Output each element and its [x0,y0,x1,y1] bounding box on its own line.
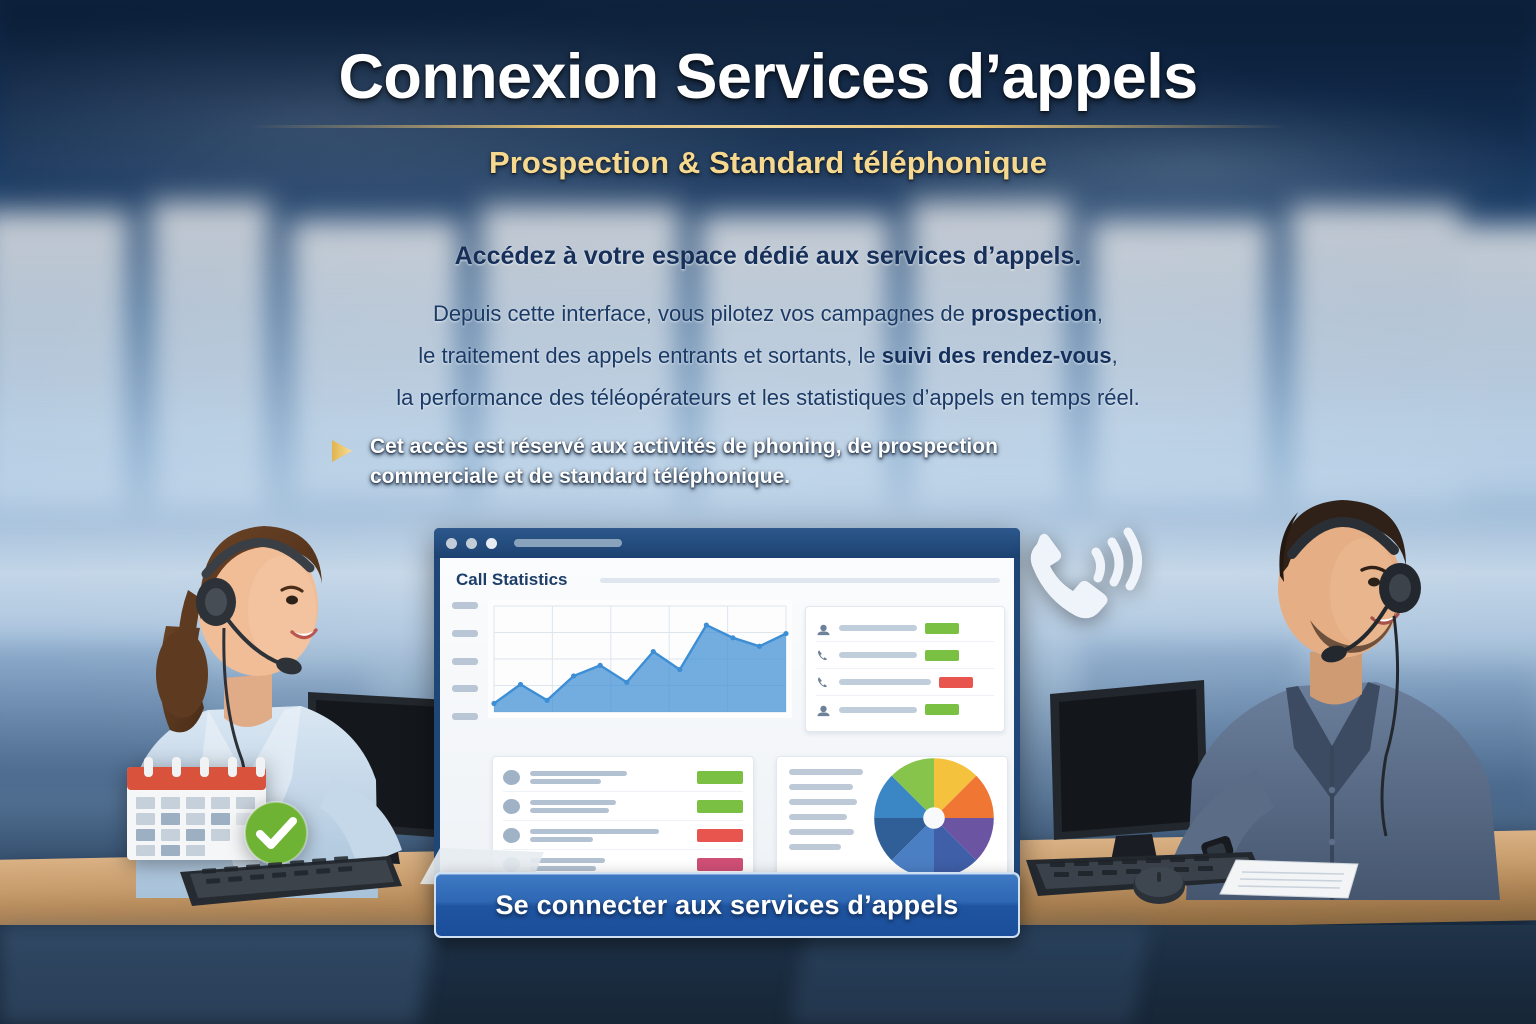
status-row[interactable] [816,696,994,723]
window-dot-minimize[interactable] [466,538,477,549]
copy-line-2-c: , [1112,343,1118,368]
status-row-label [839,679,931,685]
legend-bar [789,844,841,850]
status-row-label [839,652,917,658]
area-series [488,600,792,718]
notepad [1216,854,1362,902]
phone-icon [816,648,831,663]
keyboard-left [176,852,406,910]
list-item[interactable] [503,792,743,821]
y-tick [452,658,478,665]
page-title: Call Statistics [456,570,568,590]
status-badge [925,650,959,661]
connect-button-label: Se connecter aux services d’appels [495,890,958,921]
callout-text: Cet accès est réservé aux activités de p… [370,432,998,492]
legend-bar [789,784,853,790]
copy-lead: Accédez à votre espace dédié aux service… [0,242,1536,271]
phone-icon [816,675,831,690]
copy-line-1-c: , [1097,301,1103,326]
call-status-card[interactable] [805,606,1005,732]
promo-banner: Call Statistics [0,0,1536,1024]
hero-header: Connexion Services d’appels Prospection … [0,44,1536,181]
status-row[interactable] [816,642,994,669]
y-tick [452,630,478,637]
call-distribution-card[interactable] [776,756,1008,884]
list-item-badge [697,771,743,784]
y-axis-ticks [452,602,480,720]
status-row[interactable] [816,669,994,696]
callout-line-1: Cet accès est réservé aux activités de p… [370,432,998,462]
copy-line-2: le traitement des appels entrants et sor… [0,335,1536,377]
connect-button[interactable]: Se connecter aux services d’appels [434,872,1020,938]
pie-legend [789,769,863,850]
y-tick [452,685,478,692]
copy-line-1: Depuis cette interface, vous pilotez vos… [0,293,1536,335]
hero-divider [251,125,1286,128]
list-item-text [530,771,687,784]
y-tick [452,713,478,720]
status-row[interactable] [816,615,994,642]
avatar [503,799,520,814]
list-item-text [530,800,687,813]
list-item-badge [697,800,743,813]
restricted-access-callout: Cet accès est réservé aux activités de p… [302,432,1062,492]
y-tick [452,602,478,609]
mouse [1128,862,1190,906]
window-dot-maximize[interactable] [486,538,497,549]
list-item-text [530,858,687,871]
user-icon [816,621,831,636]
copy-line-2-a: le traitement des appels entrants et sor… [418,343,881,368]
status-row-label [839,707,917,713]
avatar [503,770,520,785]
user-icon [816,702,831,717]
dashboard-window[interactable]: Call Statistics [434,528,1020,886]
copy-line-1-bold: prospection [971,301,1097,326]
hero-title: Connexion Services d’appels [0,44,1536,111]
desk-underside [0,925,1536,1024]
list-item[interactable] [503,763,743,792]
legend-bar [789,769,863,775]
pie-center-hole [923,807,945,829]
title-divider [600,578,1000,583]
status-row-label [839,625,917,631]
arrow-right-icon [302,438,354,464]
agent-male-illustration [1128,470,1528,900]
hero-subtitle: Prospection & Standard téléphonique [0,145,1536,181]
copy-line-3: la performance des téléopérateurs et les… [0,377,1536,419]
callout-line-2: commerciale et de standard téléphonique. [370,462,998,492]
pie-chart[interactable] [869,753,999,883]
copy-line-1-a: Depuis cette interface, vous pilotez vos… [433,301,971,326]
legend-bar [789,799,857,805]
list-item-badge [697,858,743,871]
list-item-badge [697,829,743,842]
status-badge [939,677,973,688]
address-bar[interactable] [514,539,622,547]
intro-copy: Accédez à votre espace dédié aux service… [0,242,1536,420]
window-titlebar [434,528,1020,558]
window-dot-close[interactable] [446,538,457,549]
list-item-text [530,829,687,842]
phone-ringing-icon [1020,524,1144,628]
status-badge [925,704,959,715]
legend-bar [789,829,854,835]
call-statistics-chart[interactable] [452,600,792,728]
status-badge [925,623,959,634]
legend-bar [789,814,847,820]
dashboard-content: Call Statistics [440,558,1014,886]
copy-line-2-bold: suivi des rendez-vous [882,343,1112,368]
chart-plot-area [488,600,792,718]
